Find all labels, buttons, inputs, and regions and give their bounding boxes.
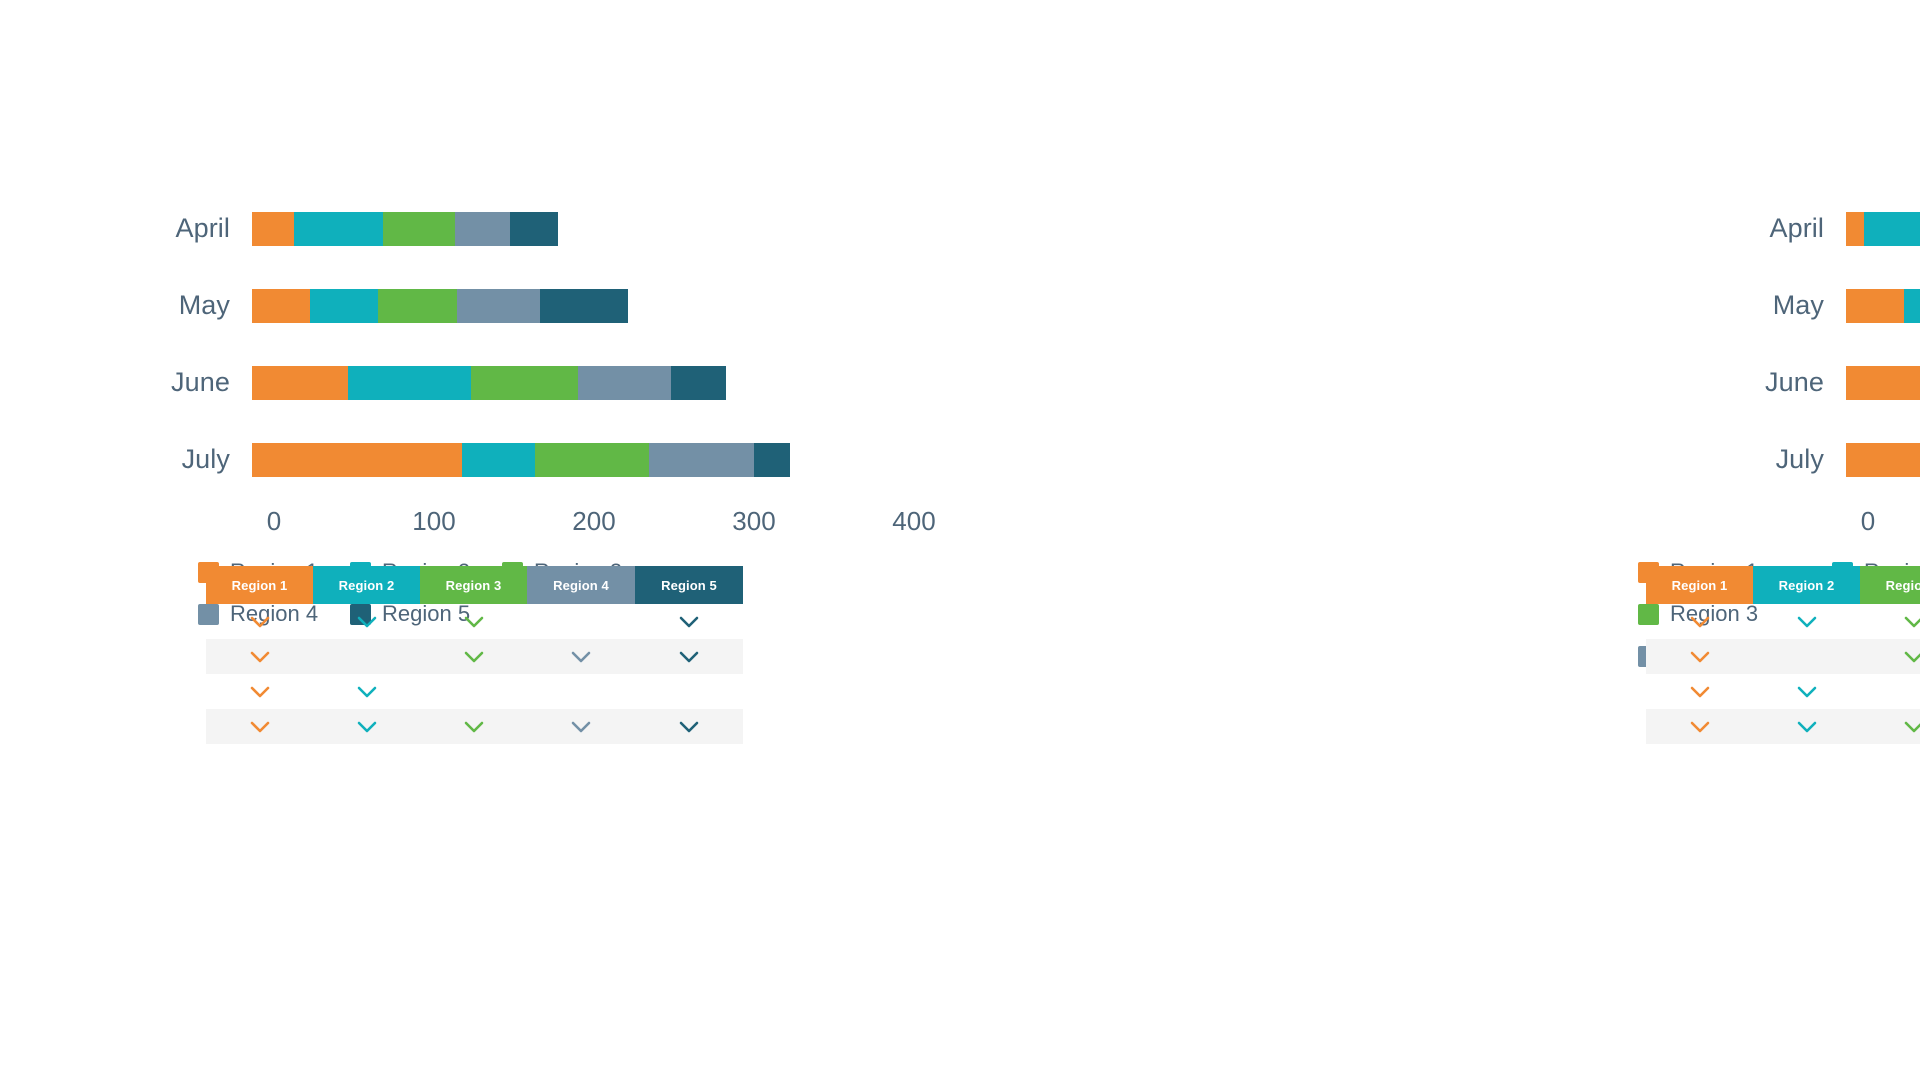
check-icon xyxy=(464,651,484,663)
bar-row: April xyxy=(150,190,850,267)
matrix-cell-checked[interactable] xyxy=(206,674,313,709)
matrix-cell-checked[interactable] xyxy=(1646,604,1753,639)
check-icon xyxy=(1904,651,1920,663)
matrix-cell-checked[interactable] xyxy=(420,604,527,639)
bar-segment-region-1[interactable] xyxy=(1846,289,1904,323)
matrix-body xyxy=(1646,604,1920,744)
check-icon xyxy=(1904,616,1920,628)
bar-segment-region-4[interactable] xyxy=(578,366,671,400)
matrix-cell-checked[interactable] xyxy=(1646,709,1753,744)
stacked-bar[interactable] xyxy=(252,212,558,246)
matrix-cell-checked[interactable] xyxy=(420,709,527,744)
matrix-cell-checked[interactable] xyxy=(1860,604,1920,639)
matrix-row xyxy=(1646,674,1920,709)
matrix-cell-checked[interactable] xyxy=(527,639,635,674)
bar-track xyxy=(252,366,726,400)
matrix-cell-checked[interactable] xyxy=(206,639,313,674)
bar-track xyxy=(1846,289,1920,323)
matrix-row xyxy=(206,674,743,709)
check-icon xyxy=(250,616,270,628)
category-label: July xyxy=(1760,444,1846,475)
bar-row: June xyxy=(1760,344,1920,421)
bar-segment-region-5[interactable] xyxy=(510,212,558,246)
check-icon xyxy=(679,616,699,628)
matrix-body xyxy=(206,604,743,744)
matrix-cell-checked[interactable] xyxy=(1753,674,1860,709)
bar-segment-region-2[interactable] xyxy=(310,289,379,323)
matrix-cell-checked[interactable] xyxy=(1753,709,1860,744)
matrix-cell-checked[interactable] xyxy=(313,604,420,639)
matrix-cell-empty[interactable] xyxy=(420,674,527,709)
bar-segment-region-3[interactable] xyxy=(535,443,649,477)
matrix-cell-checked[interactable] xyxy=(635,604,743,639)
matrix-cell-checked[interactable] xyxy=(1860,709,1920,744)
bar-track xyxy=(1846,443,1920,477)
bar-segment-region-2[interactable] xyxy=(1904,289,1920,323)
matrix-cell-checked[interactable] xyxy=(206,604,313,639)
bar-row: May xyxy=(150,267,850,344)
matrix-header-region-5[interactable]: Region 5 xyxy=(635,566,743,604)
bar-segment-region-1[interactable] xyxy=(1846,212,1864,246)
category-label: April xyxy=(1760,213,1846,244)
check-icon xyxy=(1797,721,1817,733)
x-axis-tick: 0 xyxy=(1861,506,1875,537)
stacked-bar-chart-right: AprilMayJuneJuly 0100200300400 xyxy=(1760,190,1920,544)
category-label: May xyxy=(1760,290,1846,321)
matrix-cell-checked[interactable] xyxy=(1860,639,1920,674)
stacked-bar[interactable] xyxy=(1846,443,1920,477)
bar-segment-region-4[interactable] xyxy=(455,212,509,246)
bar-segment-region-5[interactable] xyxy=(671,366,725,400)
matrix-cell-checked[interactable] xyxy=(635,639,743,674)
region-matrix-left: Region 1Region 2Region 3Region 4Region 5 xyxy=(206,566,743,744)
x-axis-tick: 0 xyxy=(267,506,281,537)
check-icon xyxy=(1797,616,1817,628)
check-icon xyxy=(250,651,270,663)
matrix-row xyxy=(1646,639,1920,674)
check-icon xyxy=(1690,721,1710,733)
check-icon xyxy=(571,651,591,663)
check-icon xyxy=(1690,651,1710,663)
check-icon xyxy=(357,686,377,698)
right-panel: AprilMayJuneJuly 0100200300400 Region 1R… xyxy=(760,0,1920,1080)
bar-row: July xyxy=(1760,421,1920,498)
page-root: AprilMayJuneJuly 0100200300400 Region 1R… xyxy=(0,0,1920,1080)
stacked-bar[interactable] xyxy=(1846,366,1920,400)
matrix-row xyxy=(1646,709,1920,744)
stacked-bar[interactable] xyxy=(252,443,790,477)
matrix-cell-checked[interactable] xyxy=(313,709,420,744)
matrix-cell-checked[interactable] xyxy=(1646,674,1753,709)
matrix-row xyxy=(1646,604,1920,639)
bar-track xyxy=(252,443,790,477)
matrix-cell-empty[interactable] xyxy=(313,639,420,674)
bar-segment-region-1[interactable] xyxy=(252,212,294,246)
stacked-bar-chart-left: AprilMayJuneJuly 0100200300400 xyxy=(150,190,850,544)
matrix-cell-checked[interactable] xyxy=(420,639,527,674)
bar-segment-region-2[interactable] xyxy=(462,443,536,477)
matrix-header-region-1[interactable]: Region 1 xyxy=(206,566,313,604)
matrix-header-region-4[interactable]: Region 4 xyxy=(527,566,635,604)
bar-segment-region-4[interactable] xyxy=(649,443,755,477)
check-icon xyxy=(679,651,699,663)
bar-segment-region-1[interactable] xyxy=(1846,443,1920,477)
check-icon xyxy=(464,721,484,733)
bar-segment-region-4[interactable] xyxy=(457,289,540,323)
check-icon xyxy=(357,721,377,733)
matrix-cell-checked[interactable] xyxy=(635,709,743,744)
check-icon xyxy=(1797,686,1817,698)
matrix-cell-checked[interactable] xyxy=(206,709,313,744)
bar-segment-region-2[interactable] xyxy=(348,366,471,400)
region-matrix-right: Region 1Region 2Region 3Region 4Region 5 xyxy=(1646,566,1920,744)
category-label: June xyxy=(150,367,252,398)
matrix-header-region-1[interactable]: Region 1 xyxy=(1646,566,1753,604)
bar-track xyxy=(252,212,558,246)
check-icon xyxy=(1690,686,1710,698)
bars-container-left: AprilMayJuneJuly xyxy=(150,190,850,498)
stacked-bar[interactable] xyxy=(252,366,726,400)
bar-row: July xyxy=(150,421,850,498)
stacked-bar[interactable] xyxy=(252,289,628,323)
bar-segment-region-1[interactable] xyxy=(1846,366,1920,400)
check-icon xyxy=(1690,616,1710,628)
matrix-cell-empty[interactable] xyxy=(635,674,743,709)
check-icon xyxy=(464,616,484,628)
category-label: June xyxy=(1760,367,1846,398)
bar-segment-region-5[interactable] xyxy=(540,289,628,323)
matrix-cell-empty[interactable] xyxy=(1860,674,1920,709)
matrix-row xyxy=(206,604,743,639)
stacked-bar[interactable] xyxy=(1846,289,1920,323)
bar-track xyxy=(252,289,628,323)
stacked-bar[interactable] xyxy=(1846,212,1920,246)
x-axis-tick: 100 xyxy=(412,506,455,537)
check-icon xyxy=(1904,721,1920,733)
matrix-cell-checked[interactable] xyxy=(1646,639,1753,674)
x-axis-tick: 200 xyxy=(572,506,615,537)
matrix-row xyxy=(206,709,743,744)
bar-segment-region-3[interactable] xyxy=(471,366,578,400)
check-icon xyxy=(357,616,377,628)
category-label: April xyxy=(150,213,252,244)
bar-segment-region-1[interactable] xyxy=(252,289,310,323)
matrix-cell-empty[interactable] xyxy=(527,674,635,709)
matrix-header-region-3[interactable]: Region 3 xyxy=(1860,566,1920,604)
check-icon xyxy=(250,721,270,733)
matrix-cell-empty[interactable] xyxy=(527,604,635,639)
matrix-header-row: Region 1Region 2Region 3Region 4Region 5 xyxy=(206,566,743,604)
bar-segment-region-1[interactable] xyxy=(252,443,462,477)
bar-row: May xyxy=(1760,267,1920,344)
matrix-cell-checked[interactable] xyxy=(313,674,420,709)
matrix-header-row: Region 1Region 2Region 3Region 4Region 5 xyxy=(1646,566,1920,604)
bar-row: April xyxy=(1760,190,1920,267)
check-icon xyxy=(571,721,591,733)
matrix-cell-checked[interactable] xyxy=(527,709,635,744)
matrix-cell-checked[interactable] xyxy=(1753,604,1860,639)
bars-container-right: AprilMayJuneJuly xyxy=(1760,190,1920,498)
bar-track xyxy=(1846,212,1920,246)
category-label: May xyxy=(150,290,252,321)
matrix-header-region-3[interactable]: Region 3 xyxy=(420,566,527,604)
x-axis-left: 0100200300400 xyxy=(150,498,850,544)
bar-segment-region-2[interactable] xyxy=(294,212,384,246)
matrix-cell-empty[interactable] xyxy=(1753,639,1860,674)
check-icon xyxy=(250,686,270,698)
matrix-row xyxy=(206,639,743,674)
matrix-header-region-2[interactable]: Region 2 xyxy=(1753,566,1860,604)
x-axis-right: 0100200300400 xyxy=(1760,498,1920,544)
bar-segment-region-3[interactable] xyxy=(383,212,455,246)
bar-segment-region-2[interactable] xyxy=(1864,212,1920,246)
matrix-header-region-2[interactable]: Region 2 xyxy=(313,566,420,604)
category-label: July xyxy=(150,444,252,475)
check-icon xyxy=(679,721,699,733)
bar-track xyxy=(1846,366,1920,400)
bar-segment-region-1[interactable] xyxy=(252,366,348,400)
bar-segment-region-3[interactable] xyxy=(378,289,456,323)
bar-row: June xyxy=(150,344,850,421)
